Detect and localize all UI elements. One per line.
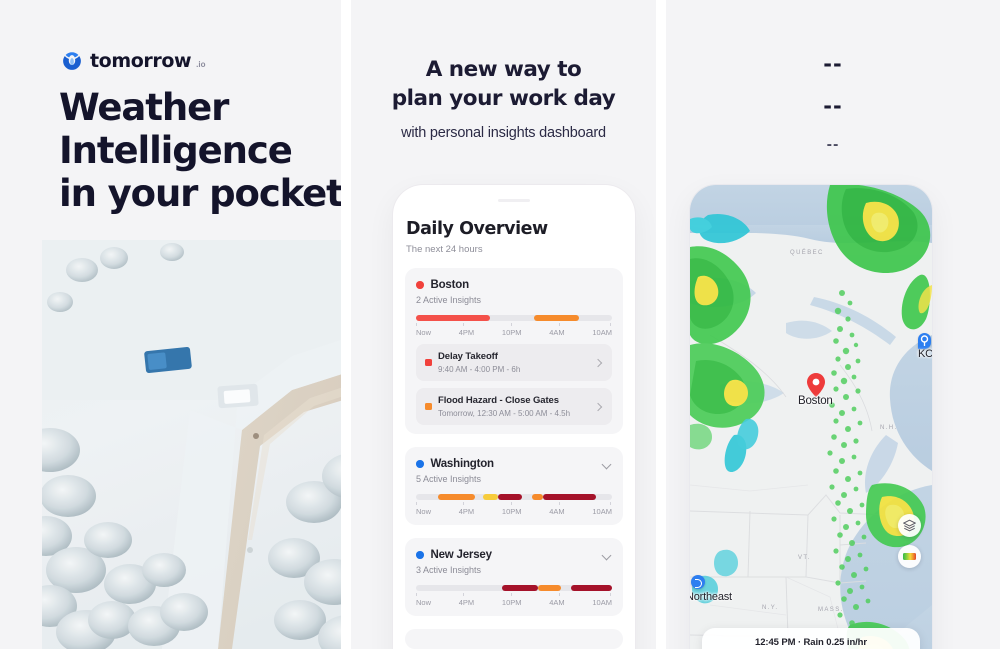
time-label: 4PM xyxy=(459,328,474,337)
placeholder-text-block: -- -- -- xyxy=(666,52,1000,153)
region-label-ny: N.Y. xyxy=(762,605,779,611)
timeline-labels: Now 4PM 10PM 4AM 10AM xyxy=(416,598,612,607)
time-label: 10AM xyxy=(592,328,612,337)
timeline-segment xyxy=(438,494,475,500)
headline-line-3: in your pocket xyxy=(59,172,341,215)
city-card-next-partial[interactable] xyxy=(405,629,623,649)
time-label: 10PM xyxy=(502,598,522,607)
time-label: 10AM xyxy=(592,507,612,516)
chevron-down-icon[interactable] xyxy=(603,460,612,469)
status-dot-boston xyxy=(416,281,424,289)
subtitle: with personal insights dashboard xyxy=(351,125,656,141)
status-dot-new-jersey xyxy=(416,551,424,559)
time-label: 4AM xyxy=(549,328,564,337)
city-card-boston[interactable]: Boston 2 Active Insights Now 4PM xyxy=(405,268,623,434)
chevron-right-icon[interactable] xyxy=(594,358,603,367)
timeline-labels: Now 4PM 10PM 4AM 10AM xyxy=(416,328,612,337)
time-label: Now xyxy=(416,507,431,516)
phone-mockup-map: QUÉBEC N.H. VT. N.Y. PA. MASS. Boston xyxy=(690,185,932,649)
city-name: Boston xyxy=(431,279,469,291)
region-label-nh: N.H. xyxy=(880,425,898,431)
city-header: Boston xyxy=(416,279,612,291)
brand-lockup: tomorrow .io xyxy=(61,50,205,72)
timeline-labels: Now 4PM 10PM 4AM 10AM xyxy=(416,507,612,516)
middle-heading-block: A new way to plan your work day with per… xyxy=(351,55,656,141)
legend-button[interactable] xyxy=(898,545,921,568)
time-label: 4AM xyxy=(549,507,564,516)
layers-button[interactable] xyxy=(898,514,921,537)
map-badge-kc[interactable] xyxy=(918,333,931,349)
time-label: 4PM xyxy=(459,507,474,516)
insight-title: Delay Takeoff xyxy=(438,351,594,362)
insight-row-flood-hazard[interactable]: Flood Hazard - Close Gates Tomorrow, 12:… xyxy=(416,388,612,425)
severity-square-icon xyxy=(425,403,432,410)
insight-meta: 9:40 AM - 4:00 PM - 6h xyxy=(438,365,594,374)
timeline-segment xyxy=(543,494,596,500)
tomorrow-globe-icon xyxy=(61,50,83,72)
placeholder-line-2: -- xyxy=(666,94,1000,118)
city-header: Washington xyxy=(416,458,612,470)
timeline-track-new-jersey[interactable] xyxy=(416,585,612,591)
time-label: 4PM xyxy=(459,598,474,607)
timeline-ticks xyxy=(416,502,612,506)
time-label: 10PM xyxy=(502,328,522,337)
headline-line-2: Intelligence xyxy=(59,129,341,172)
active-insights-count: 3 Active Insights xyxy=(416,565,612,575)
chevron-right-icon[interactable] xyxy=(594,402,603,411)
time-label: Now xyxy=(416,598,431,607)
city-name: Washington xyxy=(431,458,494,470)
phone-speaker-grille xyxy=(498,199,530,202)
brand-name: tomorrow xyxy=(90,50,191,72)
timeline-ticks xyxy=(416,593,612,597)
screen-title: Daily Overview xyxy=(405,219,623,239)
panel-weather-intelligence: tomorrow .io Weather Intelligence in you… xyxy=(0,0,341,649)
timeline-segment xyxy=(532,494,544,500)
page-title: A new way to plan your work day xyxy=(351,55,656,113)
severity-square-icon xyxy=(425,359,432,366)
map-badge-northeast[interactable] xyxy=(691,575,705,589)
panel-daily-overview: A new way to plan your work day with per… xyxy=(351,0,656,649)
phone-mockup-dashboard: Daily Overview The next 24 hours Boston … xyxy=(393,185,635,649)
chevron-down-icon[interactable] xyxy=(603,551,612,560)
map-label-kc: KC xyxy=(918,348,932,360)
city-header: New Jersey xyxy=(416,549,612,561)
brand-tld: .io xyxy=(196,60,205,69)
map-label-northeast: Northeast xyxy=(690,591,732,603)
region-label-quebec: QUÉBEC xyxy=(790,250,824,256)
time-label: 4AM xyxy=(549,598,564,607)
time-label: Now xyxy=(416,328,431,337)
active-insights-count: 5 Active Insights xyxy=(416,474,612,484)
panel-divider-1 xyxy=(341,0,351,649)
panel-radar-map: -- -- -- xyxy=(666,0,1000,649)
app-screen: Daily Overview The next 24 hours Boston … xyxy=(393,219,635,649)
panel-divider-2 xyxy=(656,0,666,649)
promo-screenshot-stage: tomorrow .io Weather Intelligence in you… xyxy=(0,0,1000,649)
insight-meta: Tomorrow, 12:30 AM - 5:00 AM - 4.5h xyxy=(438,409,594,418)
city-label-boston: Boston xyxy=(798,395,833,407)
timeline-track-washington[interactable] xyxy=(416,494,612,500)
timeline-segment xyxy=(502,585,537,591)
weather-radar-map[interactable]: QUÉBEC N.H. VT. N.Y. PA. MASS. Boston xyxy=(690,185,932,649)
map-pin-boston[interactable] xyxy=(807,373,825,397)
insight-row-delay-takeoff[interactable]: Delay Takeoff 9:40 AM - 4:00 PM - 6h xyxy=(416,344,612,381)
city-card-new-jersey[interactable]: New Jersey 3 Active Insights xyxy=(405,538,623,616)
timeline-segment xyxy=(498,494,522,500)
screen-subtitle: The next 24 hours xyxy=(405,244,623,255)
timeline-segment xyxy=(571,585,612,591)
headline-line-1: Weather xyxy=(59,86,341,129)
layers-icon xyxy=(903,519,916,532)
radar-timeline-card[interactable]: 12:45 PM · Rain 0.25 in/hr -2h Now +2h xyxy=(702,628,920,649)
time-label: 10PM xyxy=(502,507,522,516)
placeholder-line-1: -- xyxy=(666,52,1000,76)
headline-line-2: plan your work day xyxy=(351,84,656,113)
timeline-ticks xyxy=(416,323,612,327)
page-title: Weather Intelligence in your pocket xyxy=(59,86,341,215)
timeline-track-boston[interactable] xyxy=(416,315,612,321)
aerial-snow-forest-road-photo xyxy=(42,240,341,649)
insight-title: Flood Hazard - Close Gates xyxy=(438,395,594,406)
timeline-segment xyxy=(483,494,499,500)
status-dot-washington xyxy=(416,460,424,468)
timeline-segment xyxy=(538,585,562,591)
city-name: New Jersey xyxy=(431,549,492,561)
timeline-segment xyxy=(534,315,579,321)
timeline-segment xyxy=(416,315,490,321)
timeline-title: 12:45 PM · Rain 0.25 in/hr xyxy=(713,637,909,648)
active-insights-count: 2 Active Insights xyxy=(416,295,612,305)
placeholder-line-3: -- xyxy=(666,138,1000,153)
city-card-washington[interactable]: Washington 5 Active Insights xyxy=(405,447,623,525)
time-label: 10AM xyxy=(592,598,612,607)
region-label-vt: VT. xyxy=(798,555,811,561)
color-scale-icon xyxy=(903,553,916,560)
region-label-mass: MASS. xyxy=(818,607,844,613)
headline-line-1: A new way to xyxy=(351,55,656,84)
